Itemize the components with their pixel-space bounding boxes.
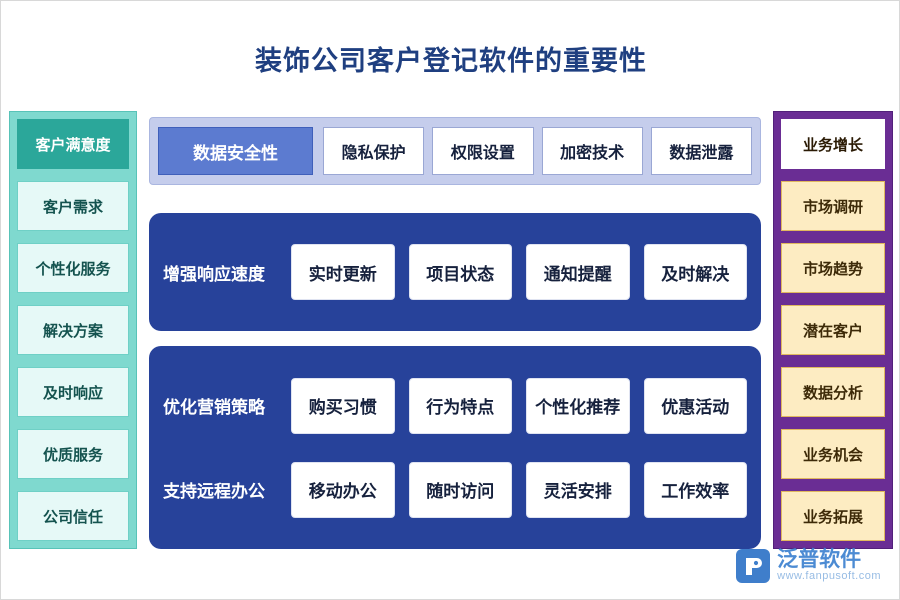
right-item-4[interactable]: 数据分析	[781, 367, 885, 417]
brand-text: 泛普软件 www.fanpusoft.com	[777, 549, 881, 583]
response-panel: 增强响应速度 实时更新 项目状态 通知提醒 及时解决	[149, 213, 761, 331]
left-item-4[interactable]: 及时响应	[17, 367, 129, 417]
brand-logo-icon	[736, 549, 770, 583]
right-item-2[interactable]: 市场趋势	[781, 243, 885, 293]
right-item-3[interactable]: 潜在客户	[781, 305, 885, 355]
security-card-2[interactable]: 加密技术	[542, 127, 643, 175]
response-panel-label: 增强响应速度	[163, 260, 291, 285]
marketing-remote-panel: 优化营销策略 购买习惯 行为特点 个性化推荐 优惠活动 支持远程办公 移动办公 …	[149, 346, 761, 549]
left-item-label: 个性化服务	[35, 258, 110, 279]
left-item-1[interactable]: 客户需求	[17, 181, 129, 231]
left-item-5[interactable]: 优质服务	[17, 429, 129, 479]
response-card-2[interactable]: 通知提醒	[526, 244, 630, 300]
marketing-card-2[interactable]: 个性化推荐	[526, 378, 630, 434]
security-card-3[interactable]: 数据泄露	[651, 127, 752, 175]
left-item-label: 公司信任	[43, 506, 103, 527]
right-item-5[interactable]: 业务机会	[781, 429, 885, 479]
left-item-label: 客户满意度	[35, 134, 110, 155]
remote-card-3[interactable]: 工作效率	[644, 462, 748, 518]
right-item-6[interactable]: 业务拓展	[781, 491, 885, 541]
right-column-panel: 业务增长 市场调研 市场趋势 潜在客户 数据分析 业务机会 业务拓展	[773, 111, 893, 549]
page-title: 装饰公司客户登记软件的重要性	[1, 39, 900, 78]
right-item-label: 数据分析	[803, 382, 863, 403]
left-item-6[interactable]: 公司信任	[17, 491, 129, 541]
right-item-label: 业务增长	[803, 134, 863, 155]
response-card-1[interactable]: 项目状态	[409, 244, 513, 300]
remote-row: 支持远程办公 移动办公 随时访问 灵活安排 工作效率	[163, 448, 747, 532]
right-item-label: 业务机会	[803, 444, 863, 465]
right-item-label: 市场调研	[803, 196, 863, 217]
remote-card-0[interactable]: 移动办公	[291, 462, 395, 518]
right-item-0[interactable]: 业务增长	[781, 119, 885, 169]
brand-name-cn: 泛普软件	[777, 549, 881, 571]
marketing-card-1[interactable]: 行为特点	[409, 378, 513, 434]
right-item-label: 业务拓展	[803, 506, 863, 527]
left-item-0[interactable]: 客户满意度	[17, 119, 129, 169]
left-item-label: 及时响应	[43, 382, 103, 403]
remote-card-1[interactable]: 随时访问	[409, 462, 513, 518]
brand-watermark: 泛普软件 www.fanpusoft.com	[736, 549, 881, 583]
marketing-row: 优化营销策略 购买习惯 行为特点 个性化推荐 优惠活动	[163, 364, 747, 448]
marketing-card-3[interactable]: 优惠活动	[644, 378, 748, 434]
remote-card-2[interactable]: 灵活安排	[526, 462, 630, 518]
left-item-2[interactable]: 个性化服务	[17, 243, 129, 293]
left-item-label: 解决方案	[43, 320, 103, 341]
security-panel-label: 数据安全性	[158, 127, 313, 175]
brand-name-en: www.fanpusoft.com	[777, 571, 881, 583]
security-card-0[interactable]: 隐私保护	[323, 127, 424, 175]
security-card-1[interactable]: 权限设置	[432, 127, 533, 175]
right-item-1[interactable]: 市场调研	[781, 181, 885, 231]
response-card-3[interactable]: 及时解决	[644, 244, 748, 300]
right-item-label: 潜在客户	[803, 320, 863, 341]
left-column-panel: 客户满意度 客户需求 个性化服务 解决方案 及时响应 优质服务 公司信任	[9, 111, 137, 549]
left-item-3[interactable]: 解决方案	[17, 305, 129, 355]
right-item-label: 市场趋势	[803, 258, 863, 279]
remote-row-label: 支持远程办公	[163, 477, 291, 502]
left-item-label: 优质服务	[43, 444, 103, 465]
marketing-row-label: 优化营销策略	[163, 393, 291, 418]
response-card-0[interactable]: 实时更新	[291, 244, 395, 300]
marketing-card-0[interactable]: 购买习惯	[291, 378, 395, 434]
security-panel: 数据安全性 隐私保护 权限设置 加密技术 数据泄露	[149, 117, 761, 185]
left-item-label: 客户需求	[43, 196, 103, 217]
